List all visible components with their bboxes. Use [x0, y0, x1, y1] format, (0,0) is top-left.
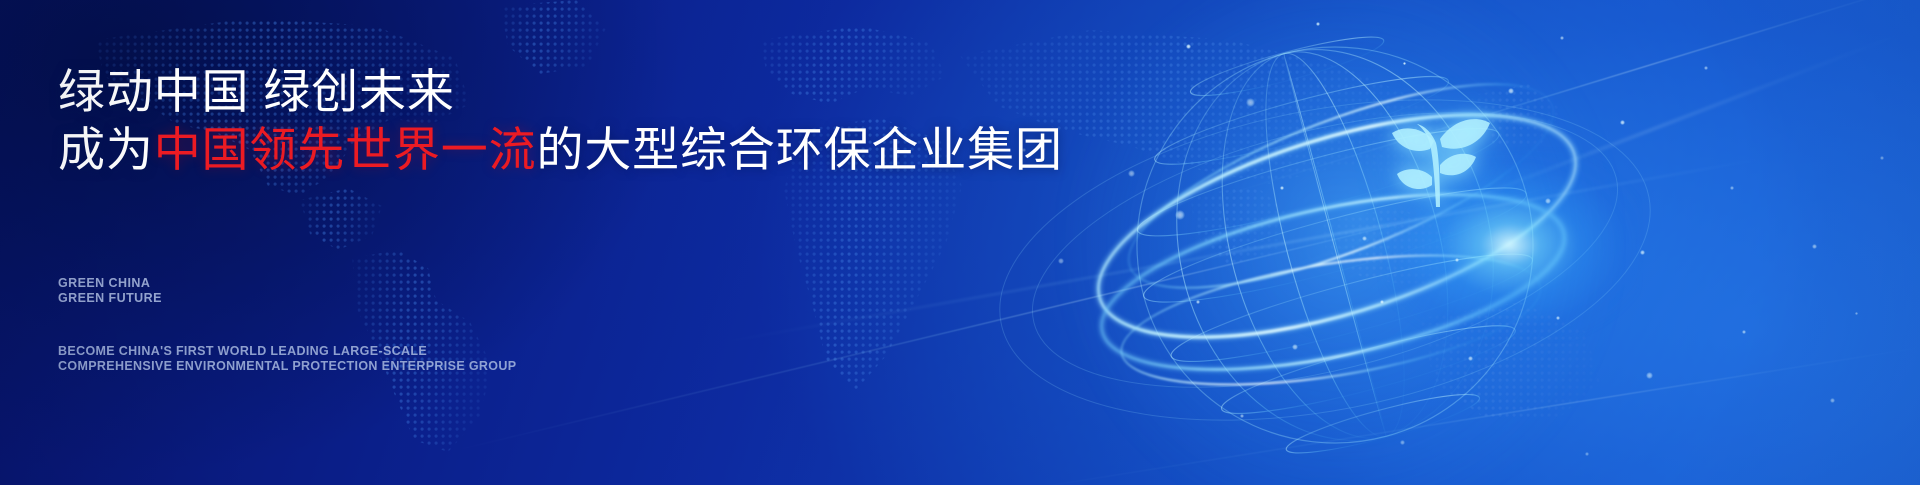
light-streak: [986, 345, 1920, 485]
headline-line-1-text: 绿动中国 绿创未来: [58, 65, 455, 118]
headline-line-2-highlight: 中国领先世界一流: [154, 123, 537, 176]
headline-line-2-suffix: 的大型综合环保企业集团: [536, 123, 1062, 176]
subline-line-2: COMPREHENSIVE ENVIRONMENTAL PROTECTION E…: [58, 359, 1058, 374]
tagline-line-2: GREEN FUTURE: [58, 291, 1058, 306]
headline-line-2-prefix: 成为: [58, 123, 154, 176]
banner-copy: 绿动中国 绿创未来 成为中国领先世界一流的大型综合环保企业集团 GREEN CH…: [58, 62, 1058, 374]
light-streak: [1196, 0, 1920, 204]
hero-banner: 绿动中国 绿创未来 成为中国领先世界一流的大型综合环保企业集团 GREEN CH…: [0, 0, 1920, 485]
headline-line-1: 绿动中国 绿创未来: [58, 62, 1058, 122]
subline-line-1: BECOME CHINA'S FIRST WORLD LEADING LARGE…: [58, 344, 1058, 359]
tagline-line-1: GREEN CHINA: [58, 276, 1058, 291]
light-burst: [1380, 150, 1640, 340]
sprout-icon: [1378, 103, 1496, 215]
light-streak: [1234, 31, 1907, 291]
globe-halo: [1060, 0, 1620, 485]
globe-graphic: [1075, 0, 1595, 485]
subline: BECOME CHINA'S FIRST WORLD LEADING LARGE…: [58, 344, 1058, 374]
tagline: GREEN CHINA GREEN FUTURE: [58, 276, 1058, 306]
headline-line-2: 成为中国领先世界一流的大型综合环保企业集团: [58, 120, 1058, 180]
